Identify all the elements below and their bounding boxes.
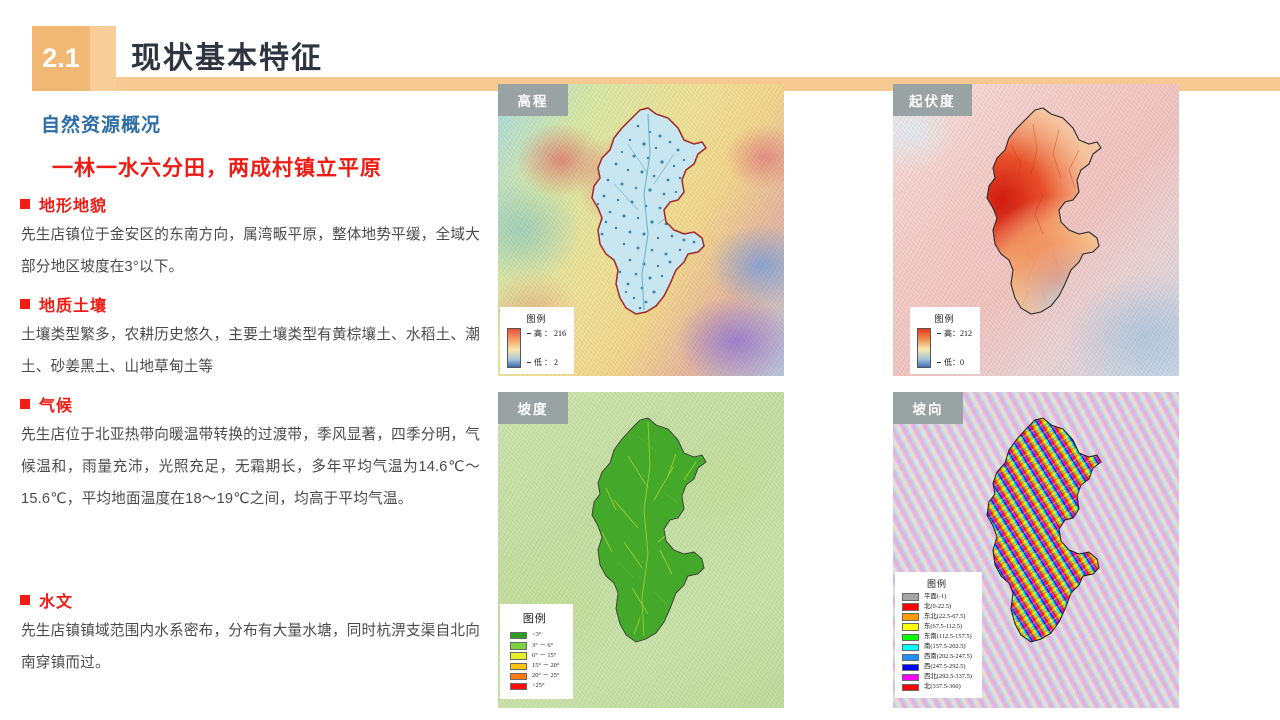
map-slope-legend: 图例 <3° 3° － 6° 6° － 15° 15° － 20°: [500, 604, 573, 699]
section-terrain: 地形地貌 先生店镇位于金安区的东南方向，属湾畈平原，整体地势平缓，全域大部分地区…: [20, 192, 480, 283]
section-number-badge: 2.1: [32, 26, 90, 91]
legend-label: 15° － 20°: [532, 662, 559, 671]
map-relief[interactable]: 起伏度 图例 高：212 低：0: [893, 84, 1179, 376]
map-slope-tag: 坡度: [498, 392, 568, 424]
legend-title: 图例: [917, 312, 972, 325]
legend-label: >25°: [532, 682, 545, 691]
legend-high-label: 高：212: [944, 328, 972, 339]
legend-swatch: [510, 642, 527, 649]
legend-swatch: [510, 632, 527, 639]
legend-label: 东南(112.5-157.5): [924, 633, 972, 642]
legend-swatch: [902, 654, 919, 661]
section-hydrology-heading-text: 水文: [39, 588, 73, 612]
section-climate-body: 先生店位于北亚热带向暖温带转换的过渡带，季风显著，四季分明，气候温和，雨量充沛，…: [20, 419, 480, 515]
slide-root: 2.1 现状基本特征 自然资源概况 一林一水六分田，两成村镇立平原 地形地貌 先…: [0, 0, 1280, 720]
legend-item: 东南(112.5-157.5): [902, 633, 972, 642]
bullet-square-icon: [20, 399, 30, 409]
legend-tick: [527, 333, 531, 334]
map-slope[interactable]: 坡度 图例 <3° 3° － 6° 6° － 15° 15° － 20: [498, 392, 784, 708]
section-hydrology-heading: 水文: [20, 588, 480, 612]
legend-title: 图例: [902, 577, 972, 590]
legend-swatch: [902, 674, 919, 681]
legend-swatch: [902, 603, 919, 610]
legend-low-label: 低 ： 2: [534, 357, 558, 368]
legend-item: 东(67.5-112.5): [902, 623, 972, 632]
map-relief-legend: 图例 高：212 低：0: [910, 307, 980, 374]
map-relief-tag: 起伏度: [893, 84, 972, 116]
legend-item: <3°: [510, 631, 559, 640]
legend-item: 15° － 20°: [510, 662, 559, 671]
bullet-square-icon: [20, 199, 30, 209]
map-elevation-tag: 高程: [498, 84, 568, 116]
legend-swatch: [510, 652, 527, 659]
legend-label: 西(247.5-292.5): [924, 663, 966, 672]
legend-label: 平面(-1): [924, 593, 946, 602]
legend-high-label: 高 ： 216: [534, 328, 566, 339]
legend-label: 西南(202.5-247.5): [924, 653, 972, 662]
legend-item: 东北(22.5-67.5): [902, 613, 972, 622]
legend-item: 北(337.5-360): [902, 683, 972, 692]
legend-item: 6° － 15°: [510, 652, 559, 661]
legend-swatch: [902, 634, 919, 641]
section-hydrology: 水文 先生店镇镇域范围内水系密布，分布有大量水塘，同时杭淠支渠自北向南穿镇而过。: [20, 588, 480, 679]
legend-label: 东(67.5-112.5): [924, 623, 962, 632]
legend-label: 20° － 25°: [532, 672, 559, 681]
section-climate-heading: 气候: [20, 392, 480, 416]
section-soil: 地质土壤 土壤类型繁多，农耕历史悠久，主要土壤类型有黄棕壤土、水稻土、潮土、砂姜…: [20, 292, 480, 383]
section-hydrology-body: 先生店镇镇域范围内水系密布，分布有大量水塘，同时杭淠支渠自北向南穿镇而过。: [20, 615, 480, 679]
legend-label: 东北(22.5-67.5): [924, 613, 966, 622]
section-climate-heading-text: 气候: [39, 392, 73, 416]
legend-items: <3° 3° － 6° 6° － 15° 15° － 20° 20° － 25°: [510, 631, 559, 691]
legend-items: 平面(-1) 北(0-22.5) 东北(22.5-67.5) 东(67.5-11…: [902, 593, 972, 692]
legend-swatch: [902, 613, 919, 620]
bullet-square-icon: [20, 595, 30, 605]
section-soil-heading-text: 地质土壤: [39, 292, 107, 316]
legend-swatch: [902, 664, 919, 671]
map-elevation-legend: 图例 高 ： 216 低 ： 2: [500, 307, 574, 374]
legend-label: 西北(292.5-337.5): [924, 673, 972, 682]
section-terrain-heading-text: 地形地貌: [39, 192, 107, 216]
legend-item: 西南(202.5-247.5): [902, 653, 972, 662]
legend-swatch: [902, 644, 919, 651]
legend-swatch: [902, 593, 919, 600]
legend-label: 3° － 6°: [532, 642, 553, 651]
legend-item: 西(247.5-292.5): [902, 663, 972, 672]
legend-color-ramp: [917, 328, 931, 368]
legend-swatch: [510, 673, 527, 680]
legend-label: 南(157.5-202.5): [924, 643, 966, 652]
legend-swatch: [510, 663, 527, 670]
legend-item: 西北(292.5-337.5): [902, 673, 972, 682]
legend-label: 北(337.5-360): [924, 683, 961, 692]
legend-item: 南(157.5-202.5): [902, 643, 972, 652]
legend-title: 图例: [510, 610, 559, 626]
legend-item: 20° － 25°: [510, 672, 559, 681]
section-climate: 气候 先生店位于北亚热带向暖温带转换的过渡带，季风显著，四季分明，气候温和，雨量…: [20, 392, 480, 515]
legend-label: 北(0-22.5): [924, 603, 951, 612]
legend-label: <3°: [532, 631, 541, 640]
header-accent-block: [88, 26, 116, 91]
legend-label: 6° － 15°: [532, 652, 556, 661]
map-aspect[interactable]: 坡向 图例 平面(-1) 北(0-22.5) 东北(22.5-67.5): [893, 392, 1179, 708]
legend-tick: [527, 362, 531, 363]
legend-swatch: [510, 683, 527, 690]
legend-item: >25°: [510, 682, 559, 691]
bullet-square-icon: [20, 299, 30, 309]
subheading: 自然资源概况: [41, 110, 161, 137]
legend-tick: [937, 362, 941, 363]
map-aspect-legend: 图例 平面(-1) 北(0-22.5) 东北(22.5-67.5) 东(67.5…: [895, 572, 982, 698]
map-aspect-tag: 坡向: [893, 392, 963, 424]
legend-swatch: [902, 623, 919, 630]
legend-title: 图例: [507, 312, 566, 325]
legend-low-label: 低：0: [944, 357, 964, 368]
section-terrain-body: 先生店镇位于金安区的东南方向，属湾畈平原，整体地势平缓，全域大部分地区坡度在3°…: [20, 219, 480, 283]
section-terrain-heading: 地形地貌: [20, 192, 480, 216]
legend-color-ramp: [507, 328, 521, 368]
section-soil-heading: 地质土壤: [20, 292, 480, 316]
legend-swatch: [902, 684, 919, 691]
section-soil-body: 土壤类型繁多，农耕历史悠久，主要土壤类型有黄棕壤土、水稻土、潮土、砂姜黑土、山地…: [20, 319, 480, 383]
legend-tick: [937, 333, 941, 334]
slogan: 一林一水六分田，两成村镇立平原: [52, 152, 382, 182]
map-elevation[interactable]: 高程 图例 高 ： 216 低 ： 2: [498, 84, 784, 376]
page-title: 现状基本特征: [131, 33, 323, 77]
legend-item: 平面(-1): [902, 593, 972, 602]
section-number: 2.1: [42, 45, 80, 72]
legend-item: 北(0-22.5): [902, 603, 972, 612]
legend-item: 3° － 6°: [510, 642, 559, 651]
